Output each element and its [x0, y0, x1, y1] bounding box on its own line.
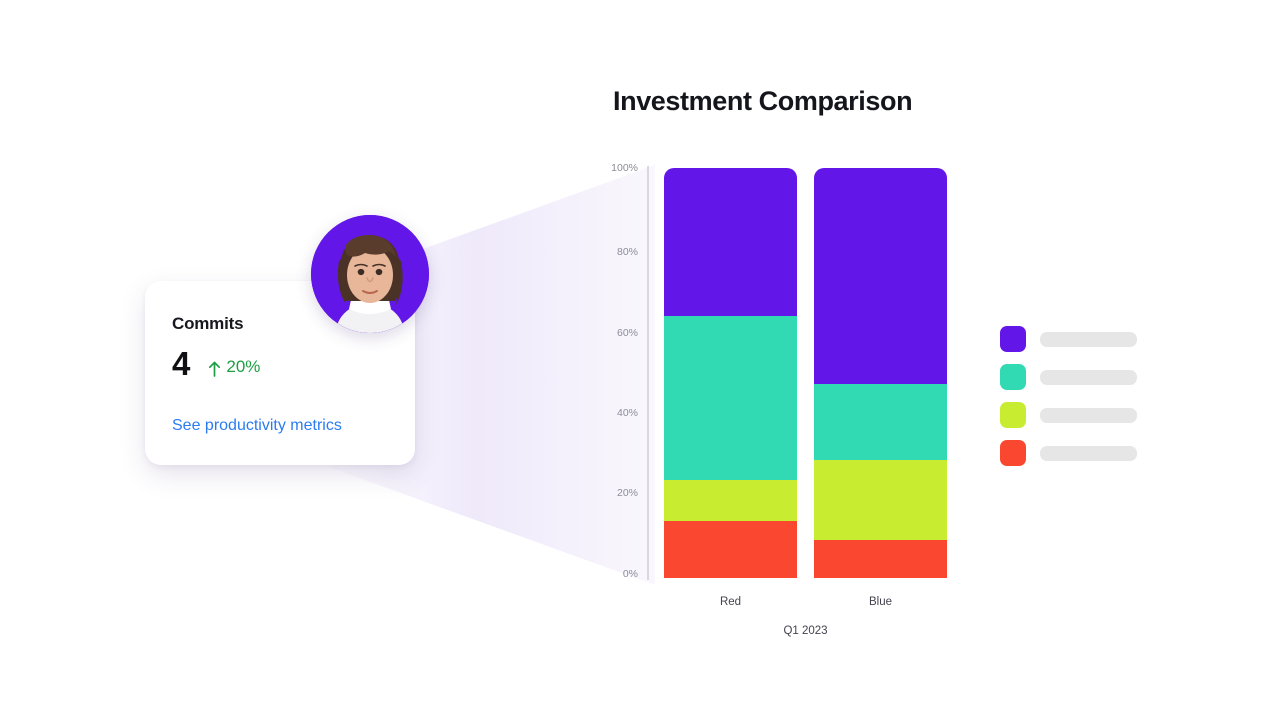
stacked-bar-chart: 100% 80% 60% 40% 20% 0% Red Blue Q1 2023 [600, 160, 1000, 640]
y-tick-40: 40% [578, 407, 638, 419]
bar-blue[interactable] [814, 168, 947, 578]
avatar[interactable] [311, 215, 429, 333]
legend-swatch-icon [1000, 402, 1026, 428]
metric-delta-value: 20% [226, 357, 260, 377]
bar-red-segment-4[interactable] [664, 521, 797, 578]
bar-blue-segment-4[interactable] [814, 540, 947, 578]
arrow-up-icon [208, 361, 221, 377]
legend-item[interactable] [1000, 326, 1137, 352]
legend-swatch-icon [1000, 364, 1026, 390]
y-axis-line [647, 166, 649, 580]
y-tick-80: 80% [578, 246, 638, 258]
legend-label-placeholder [1040, 370, 1137, 385]
productivity-metrics-link[interactable]: See productivity metrics [172, 417, 342, 435]
legend-item[interactable] [1000, 402, 1137, 428]
chart-legend [1000, 326, 1137, 466]
chart-title: Investment Comparison [613, 86, 912, 117]
metric-card-value-row: 4 20% [172, 347, 260, 380]
x-axis-label: Q1 2023 [664, 625, 947, 637]
metric-value: 4 [172, 347, 190, 380]
legend-label-placeholder [1040, 332, 1137, 347]
bar-blue-segment-2[interactable] [814, 384, 947, 460]
bar-red-segment-3[interactable] [664, 480, 797, 521]
legend-item[interactable] [1000, 364, 1137, 390]
category-label-blue: Blue [814, 596, 947, 608]
y-tick-60: 60% [578, 327, 638, 339]
bar-blue-segment-3[interactable] [814, 460, 947, 540]
y-tick-100: 100% [578, 162, 638, 174]
canvas: Commits 4 20% See productivity metrics [0, 0, 1274, 716]
legend-item[interactable] [1000, 440, 1137, 466]
bar-blue-segment-1[interactable] [814, 168, 947, 384]
bar-red[interactable] [664, 168, 797, 578]
avatar-photo [311, 215, 429, 333]
legend-swatch-icon [1000, 440, 1026, 466]
y-tick-20: 20% [578, 487, 638, 499]
metric-delta: 20% [208, 357, 260, 377]
y-tick-0: 0% [578, 568, 638, 580]
legend-swatch-icon [1000, 326, 1026, 352]
metric-card-title: Commits [172, 314, 243, 334]
category-label-red: Red [664, 596, 797, 608]
legend-label-placeholder [1040, 446, 1137, 461]
bar-red-segment-2[interactable] [664, 316, 797, 480]
legend-label-placeholder [1040, 408, 1137, 423]
bar-red-segment-1[interactable] [664, 168, 797, 316]
